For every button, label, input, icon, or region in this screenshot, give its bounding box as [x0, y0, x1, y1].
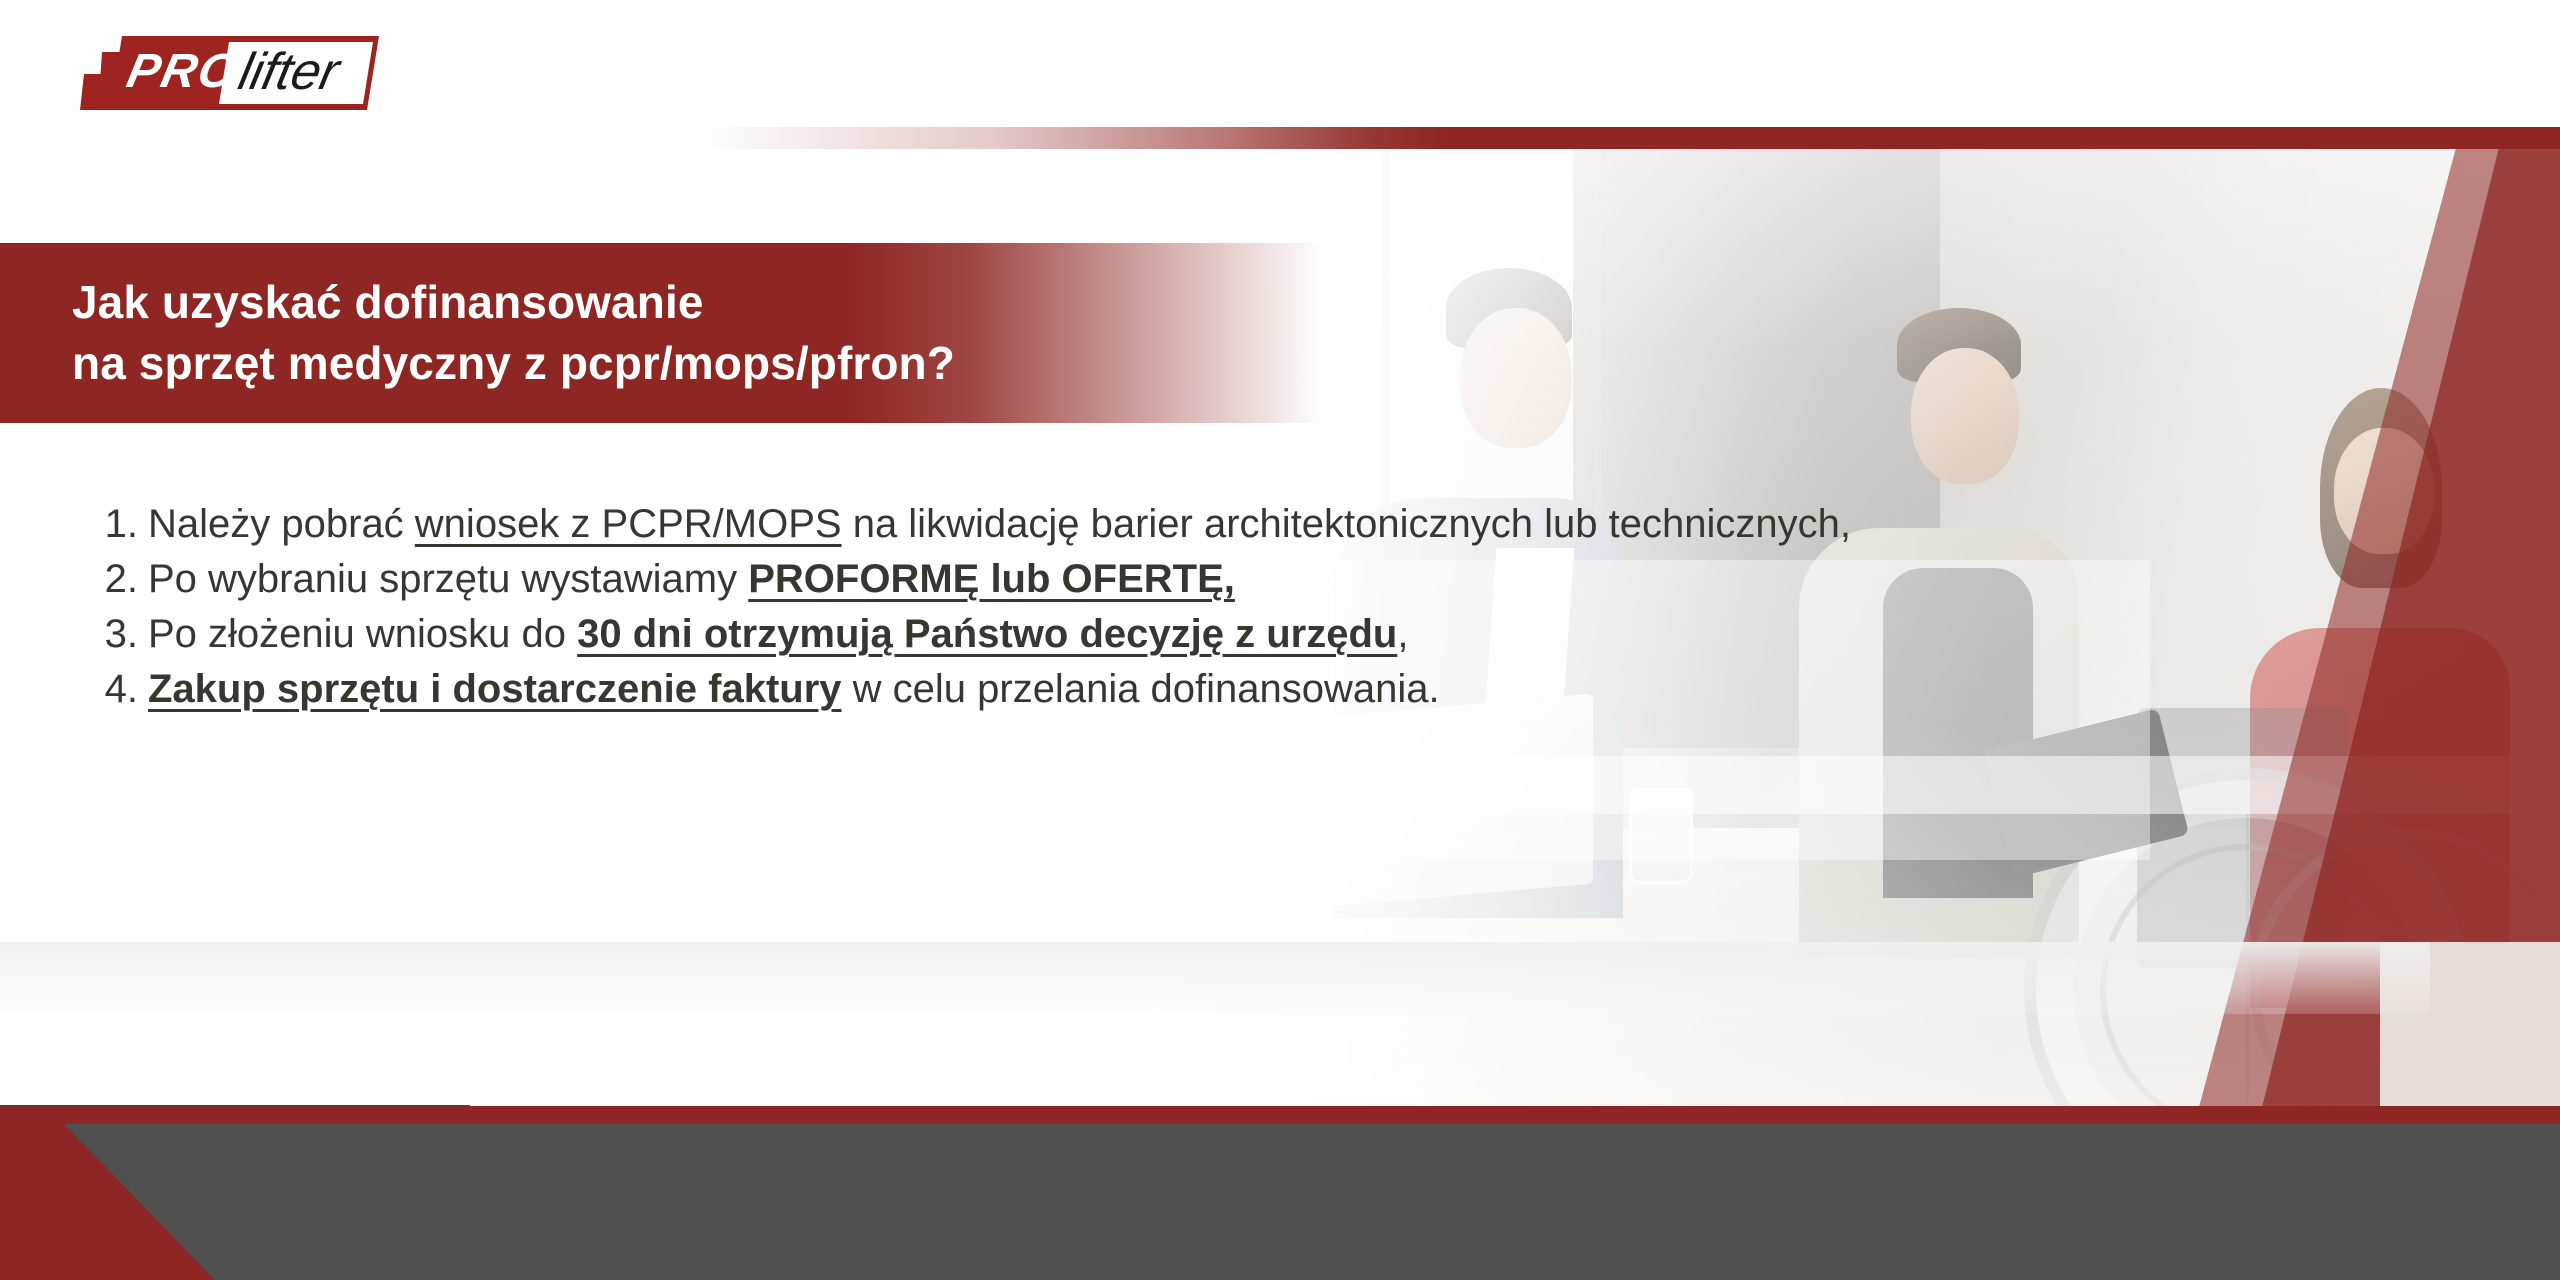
- top-red-rule: [700, 127, 2560, 149]
- step4-tail: w celu przelania dofinansowania.: [842, 667, 1440, 711]
- step1-emphasis: wniosek z PCPR/MOPS: [415, 502, 842, 546]
- step2-emphasis: PROFORMĘ lub OFERTĘ,: [748, 557, 1235, 601]
- list-item-number: 4.: [92, 663, 138, 715]
- list-item-text: Należy pobrać wniosek z PCPR/MOPS na lik…: [148, 498, 1852, 550]
- step3-lead: Po złożeniu wniosku do: [148, 612, 577, 656]
- step1-tail: na likwidację barier architektonicznych …: [842, 502, 1851, 546]
- step3-emphasis: 30 dni otrzymują Państwo decyzję z urzęd…: [577, 612, 1397, 656]
- list-item: 4. Zakup sprzętu i dostarczenie faktury …: [92, 663, 1852, 715]
- step4-emphasis: Zakup sprzętu i dostarczenie faktury: [148, 667, 842, 711]
- list-item: 1. Należy pobrać wniosek z PCPR/MOPS na …: [92, 498, 1852, 550]
- list-item-text: Po złożeniu wniosku do 30 dni otrzymują …: [148, 608, 1852, 660]
- step3-tail: ,: [1397, 612, 1408, 656]
- step1-lead: Należy pobrać: [148, 502, 415, 546]
- list-item-text: Po wybraniu sprzętu wystawiamy PROFORMĘ …: [148, 553, 1852, 605]
- list-item: 3. Po złożeniu wniosku do 30 dni otrzymu…: [92, 608, 1852, 660]
- prolifter-logo[interactable]: PRO lifter: [44, 36, 379, 110]
- content-grey-band: [0, 942, 2430, 1014]
- list-item-number: 1.: [92, 498, 138, 550]
- slide: Jak uzyskać dofinansowanie na sprzęt med…: [0, 0, 2560, 1280]
- list-item: 2. Po wybraniu sprzętu wystawiamy PROFOR…: [92, 553, 1852, 605]
- page-title: Jak uzyskać dofinansowanie na sprzęt med…: [72, 272, 955, 393]
- step2-lead: Po wybraniu sprzętu wystawiamy: [148, 557, 748, 601]
- footer-gray-block: [0, 1124, 2560, 1280]
- footer-red-bar: [0, 1106, 2560, 1126]
- logo-pro-text: PRO: [122, 44, 244, 99]
- list-item-number: 2.: [92, 553, 138, 605]
- list-item-text: Zakup sprzętu i dostarczenie faktury w c…: [148, 663, 1852, 715]
- logo-lifter-text: lifter: [234, 42, 345, 102]
- steps-list: 1. Należy pobrać wniosek z PCPR/MOPS na …: [92, 498, 1852, 718]
- list-item-number: 3.: [92, 608, 138, 660]
